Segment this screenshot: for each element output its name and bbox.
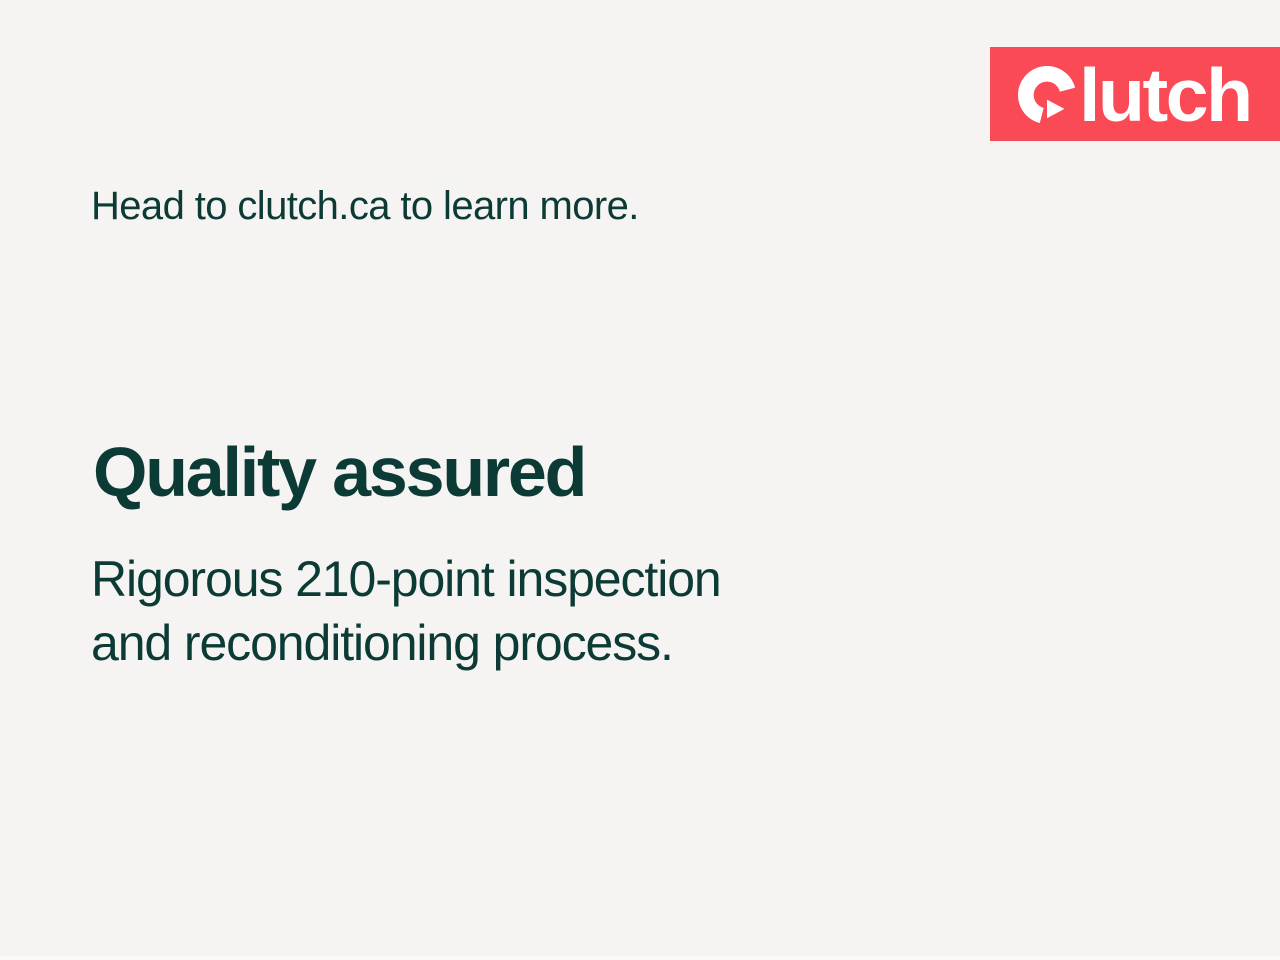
clutch-wordmark-text: lutch bbox=[1079, 66, 1251, 125]
slide-canvas: lutch Head to clutch.ca to learn more. Q… bbox=[0, 0, 1280, 960]
page-title: Quality assured bbox=[93, 437, 585, 508]
eyebrow-text: Head to clutch.ca to learn more. bbox=[91, 183, 639, 229]
clutch-logo-badge[interactable]: lutch bbox=[990, 47, 1280, 141]
subtitle-line: and reconditioning process. bbox=[91, 611, 991, 675]
clutch-c-mark-icon bbox=[1018, 66, 1076, 124]
bottom-edge-strip bbox=[0, 956, 1280, 960]
subtitle-block: Rigorous 210-point inspection and recond… bbox=[91, 547, 991, 675]
subtitle-line: Rigorous 210-point inspection bbox=[91, 547, 991, 611]
clutch-wordmark: lutch bbox=[1018, 64, 1246, 124]
